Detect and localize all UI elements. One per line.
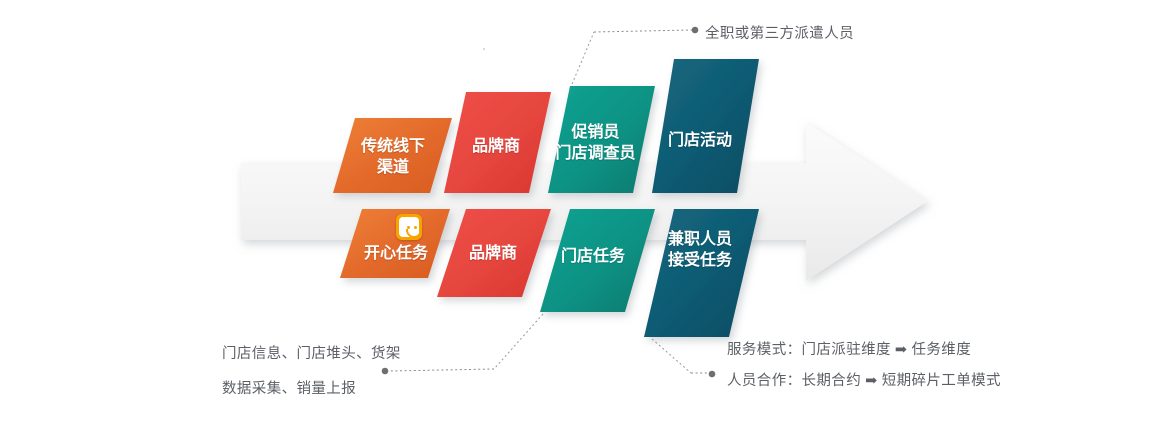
annotation-store-data-line-1: 门店信息、门店堆头、货架: [222, 344, 401, 365]
smiley-logo-icon: [396, 214, 422, 240]
annotation-store-data: 门店信息、门店堆头、货架 数据采集、销量上报: [222, 344, 401, 400]
annotation-service-model-line-1: 服务模式：门店派驻维度 ➡ 任务维度: [727, 340, 1001, 361]
connector-bottom-right: [652, 339, 715, 377]
annotation-staffing: 全职或第三方派遣人员: [705, 24, 854, 45]
connector-dot-top-right: [692, 27, 699, 34]
connector-bottom-left: [382, 314, 543, 374]
annotation-staffing-line-1: 全职或第三方派遣人员: [705, 24, 854, 45]
smiley-mouth: [406, 229, 422, 238]
connector-dot-bottom-right: [709, 371, 716, 378]
smiley-face: [399, 217, 419, 237]
annotation-store-data-line-2: 数据采集、销量上报: [222, 379, 401, 400]
annotation-service-model-line-2: 人员合作：长期合约 ➡ 短期碎片工单模式: [727, 371, 1001, 392]
speck-artifact: [483, 48, 485, 50]
diagram-canvas: 传统线下 渠道 品牌商 促销员 门店调查员 门店活动 开心任务 品牌商 门店任务…: [0, 0, 1150, 430]
annotation-service-model: 服务模式：门店派驻维度 ➡ 任务维度 人员合作：长期合约 ➡ 短期碎片工单模式: [727, 340, 1001, 392]
